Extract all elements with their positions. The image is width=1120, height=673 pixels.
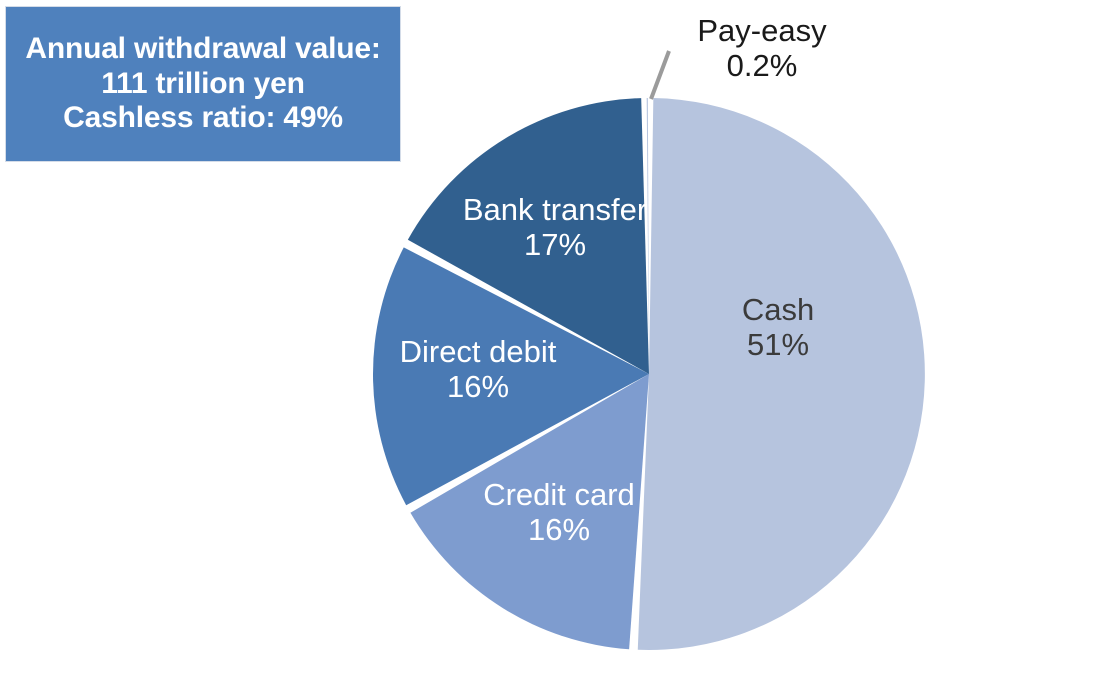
pie-slice-group xyxy=(373,98,925,650)
pie-chart-svg xyxy=(0,0,1120,668)
chart-canvas: Annual withdrawal value: 111 trillion ye… xyxy=(0,0,1120,668)
pie-chart xyxy=(0,0,1120,668)
slice-label-pay-easy-value: 0.2% xyxy=(662,48,862,83)
slice-label-pay-easy-name: Pay-easy xyxy=(662,13,862,48)
pie-slice-cash[interactable] xyxy=(638,98,925,650)
slice-label-pay-easy: Pay-easy 0.2% xyxy=(662,13,862,84)
